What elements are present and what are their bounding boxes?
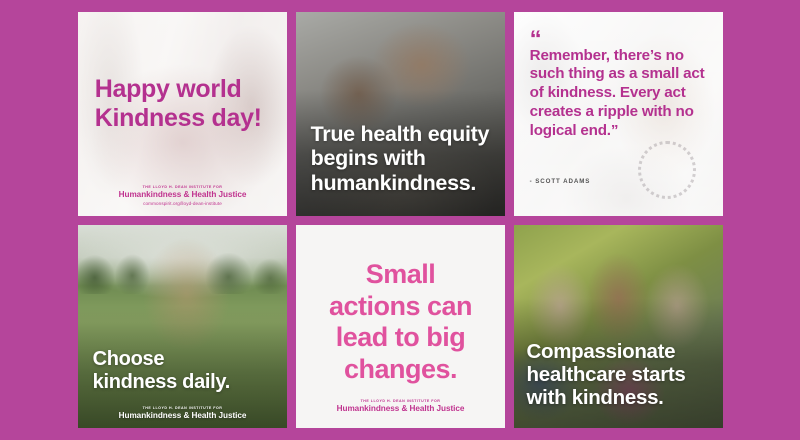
quote-attribution: - SCOTT ADAMS	[530, 178, 591, 185]
card-compassionate-healthcare[interactable]: Compassionatehealthcare startswith kindn…	[514, 225, 723, 429]
brand-lockup: THE LLOYD H. DEAN INSTITUTE FOR Humankin…	[78, 185, 287, 207]
tree-line	[78, 253, 287, 294]
card-small-actions[interactable]: Smallactions canlead to bigchanges. THE …	[296, 225, 505, 429]
brand-eyebrow: THE LLOYD H. DEAN INSTITUTE FOR	[296, 399, 505, 403]
card-headline: Smallactions canlead to bigchanges.	[313, 259, 489, 385]
card-happy-world-kindness-day[interactable]: Happy worldKindness day! THE LLOYD H. DE…	[78, 12, 287, 216]
brand-name: Humankindness & Health Justice	[78, 190, 287, 200]
social-post-grid: Happy worldKindness day! THE LLOYD H. DE…	[78, 12, 723, 428]
brand-url: commonspirit.org/lloyd-dean-institute	[78, 201, 287, 206]
brand-name: Humankindness & Health Justice	[78, 411, 287, 421]
card-scott-adams-quote[interactable]: “ Remember, there’s no such thing as a s…	[514, 12, 723, 216]
card-headline: Choosekindness daily.	[93, 348, 275, 394]
card-headline: Compassionatehealthcare startswith kindn…	[527, 340, 715, 410]
brand-eyebrow: THE LLOYD H. DEAN INSTITUTE FOR	[78, 185, 287, 189]
card-headline: Happy worldKindness day!	[95, 75, 275, 132]
card-choose-kindness-daily[interactable]: Choosekindness daily. THE LLOYD H. DEAN …	[78, 225, 287, 429]
brand-lockup: THE LLOYD H. DEAN INSTITUTE FOR Humankin…	[296, 399, 505, 414]
card-photo-children-hugging	[78, 225, 287, 429]
card-true-health-equity[interactable]: True health equitybegins withhumankindne…	[296, 12, 505, 216]
brand-lockup: THE LLOYD H. DEAN INSTITUTE FOR Humankin…	[78, 406, 287, 421]
brand-eyebrow: THE LLOYD H. DEAN INSTITUTE FOR	[78, 406, 287, 410]
quote-text: Remember, there’s no such thing as a sma…	[530, 47, 709, 141]
card-headline: True health equitybegins withhumankindne…	[311, 122, 495, 196]
brand-name: Humankindness & Health Justice	[296, 404, 505, 414]
watermark-ring-icon	[638, 141, 696, 199]
